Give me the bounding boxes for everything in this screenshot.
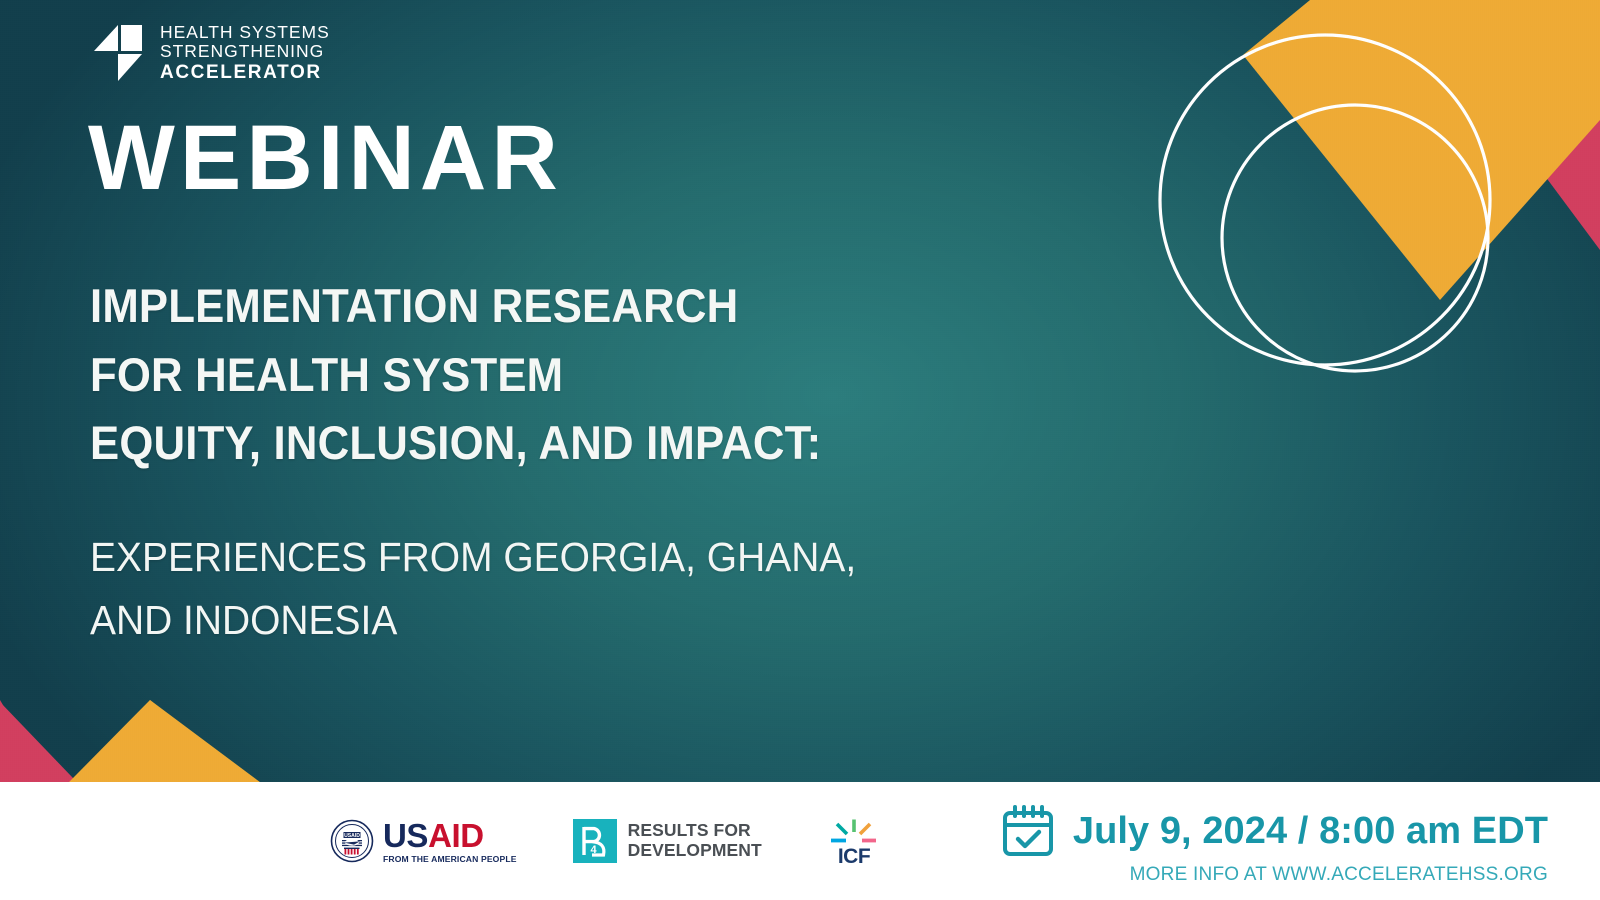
event-date-time: July 9, 2024 / 8:00 am EDT <box>1073 810 1548 853</box>
r4d-monogram-icon: 4 <box>573 819 617 863</box>
partner-logo-r4d: 4 RESULTS FOR DEVELOPMENT <box>573 819 762 863</box>
usaid-word: USAID <box>383 819 517 852</box>
brand-line-1: HEALTH SYSTEMS <box>160 23 330 43</box>
icf-wordmark: ICF <box>838 845 871 867</box>
page-subtitle: EXPERIENCES FROM GEORGIA, GHANA, AND IND… <box>90 526 856 652</box>
r4d-monogram-svg: 4 <box>573 819 617 863</box>
title-line-2: FOR HEALTH SYSTEM <box>90 341 821 410</box>
usaid-seal-icon: USAID <box>330 819 374 863</box>
usaid-tagline: FROM THE AMERICAN PEOPLE <box>383 855 517 864</box>
title-line-1: IMPLEMENTATION RESEARCH <box>90 272 821 341</box>
partner-logos: USAID <box>330 782 890 900</box>
partner-logo-usaid: USAID <box>330 819 517 864</box>
icf-logo-svg: ICF <box>818 815 890 867</box>
usaid-word-primary: US <box>383 817 428 854</box>
calendar-check-svg <box>1001 804 1055 858</box>
footer-bar: USAID <box>0 782 1600 900</box>
hss-accelerator-mark-icon <box>92 22 144 84</box>
brand-line-3: ACCELERATOR <box>160 62 330 83</box>
brand-wordmark: HEALTH SYSTEMS STRENGTHENING ACCELERATOR <box>160 23 330 83</box>
more-info-url[interactable]: MORE INFO AT WWW.ACCELERATEHSS.ORG <box>1130 864 1548 886</box>
subtitle-line-1: EXPERIENCES FROM GEORGIA, GHANA, <box>90 526 856 589</box>
webinar-promo-banner: HEALTH SYSTEMS STRENGTHENING ACCELERATOR… <box>0 0 1600 900</box>
title-line-3: EQUITY, INCLUSION, AND IMPACT: <box>90 409 821 478</box>
brand-logo: HEALTH SYSTEMS STRENGTHENING ACCELERATOR <box>92 22 330 84</box>
svg-text:4: 4 <box>590 844 597 856</box>
eyebrow-webinar: WEBINAR <box>88 112 563 204</box>
yellow-quad-top-right <box>1243 0 1600 300</box>
event-info: July 9, 2024 / 8:00 am EDT MORE INFO AT … <box>1001 804 1548 886</box>
brand-line-2: STRENGTHENING <box>160 42 330 62</box>
usaid-word-accent: AID <box>428 817 484 854</box>
yellow-quad-top-right-b <box>1512 0 1600 118</box>
r4d-wordmark: RESULTS FOR DEVELOPMENT <box>628 821 762 860</box>
usaid-wordmark: USAID FROM THE AMERICAN PEOPLE <box>383 819 517 864</box>
page-title: IMPLEMENTATION RESEARCH FOR HEALTH SYSTE… <box>90 272 821 478</box>
r4d-line-1: RESULTS FOR <box>628 821 762 841</box>
event-date-row: July 9, 2024 / 8:00 am EDT <box>1001 804 1548 858</box>
crimson-triangle-top-right <box>1470 60 1600 250</box>
partner-logo-icf: ICF <box>818 815 890 867</box>
usaid-seal-svg: USAID <box>330 819 374 863</box>
ring-outer <box>1160 35 1490 365</box>
ring-inner <box>1222 105 1488 371</box>
r4d-line-2: DEVELOPMENT <box>628 841 762 861</box>
svg-text:USAID: USAID <box>344 833 360 839</box>
hss-accelerator-mark-svg <box>92 22 144 84</box>
subtitle-line-2: AND INDONESIA <box>90 589 856 652</box>
icf-starburst-icon: ICF <box>818 815 890 867</box>
calendar-check-icon <box>1001 804 1055 858</box>
